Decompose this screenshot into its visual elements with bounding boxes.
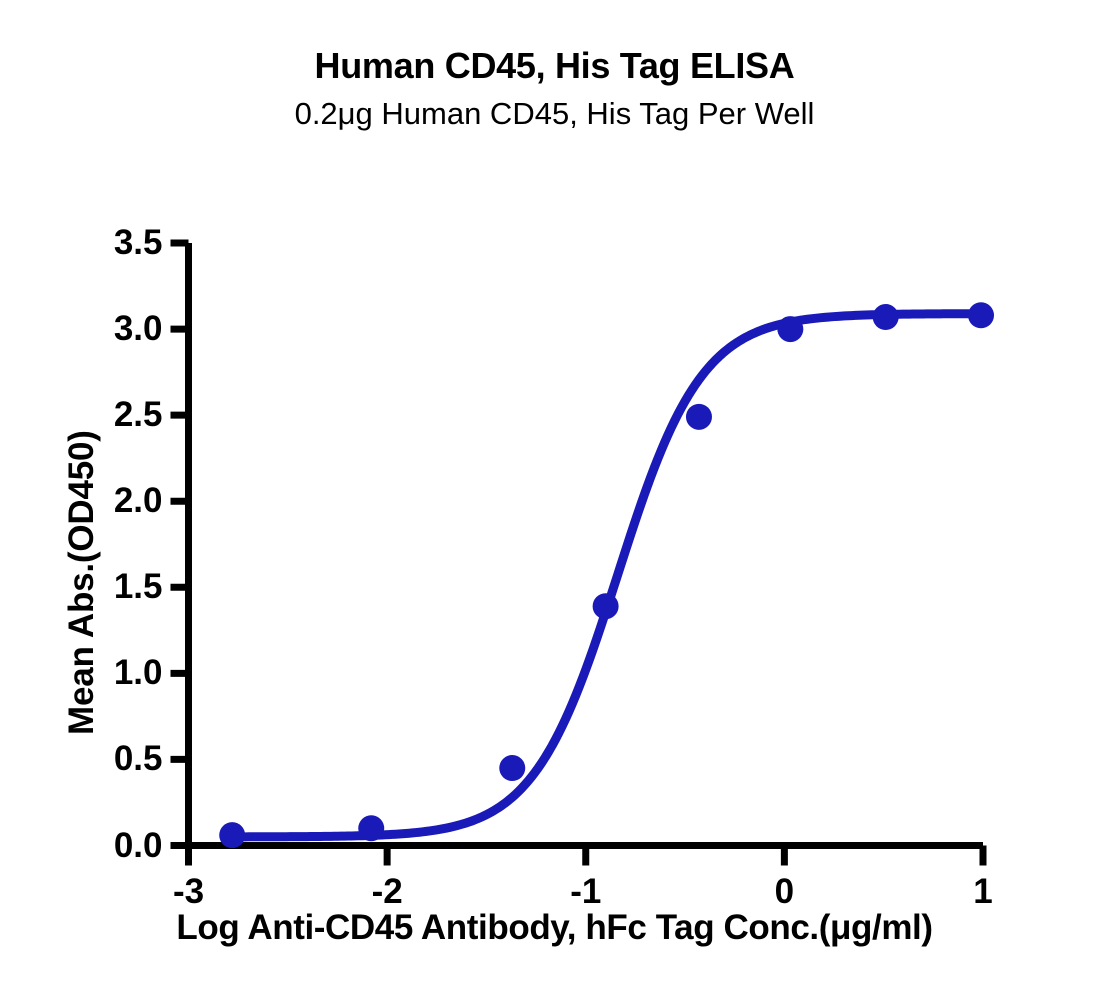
data-point [686, 404, 712, 430]
data-point [358, 815, 384, 841]
x-tick-label: -2 [352, 874, 422, 909]
x-tick-label: 0 [749, 874, 819, 909]
fit-curve [232, 314, 981, 837]
plot-canvas [0, 0, 1109, 1005]
y-axis-title: Mean Abs.(OD450) [62, 430, 102, 735]
data-point-markers [219, 302, 994, 848]
x-axis-title: Log Anti-CD45 Antibody, hFc Tag Conc.(μg… [0, 908, 1109, 948]
data-point [968, 302, 994, 328]
y-tick-label: 3.0 [53, 311, 163, 346]
elisa-chart-figure: Human CD45, His Tag ELISA 0.2μg Human CD… [0, 0, 1109, 1005]
data-point [499, 755, 525, 781]
plot-area: 0.00.51.01.52.02.53.03.5 -3-2-101 Mean A… [0, 0, 1109, 1005]
axis-spines [185, 243, 983, 848]
data-point [777, 316, 803, 342]
y-tick-label: 0.0 [53, 828, 163, 863]
y-tick-label: 0.5 [53, 741, 163, 776]
x-tick-label: -3 [154, 874, 224, 909]
data-point [593, 593, 619, 619]
x-tick-label: -1 [551, 874, 621, 909]
x-tick-label: 1 [948, 874, 1018, 909]
y-tick-label: 2.5 [53, 397, 163, 432]
data-point [219, 822, 245, 848]
y-tick-label: 3.5 [53, 225, 163, 260]
data-point [873, 304, 899, 330]
